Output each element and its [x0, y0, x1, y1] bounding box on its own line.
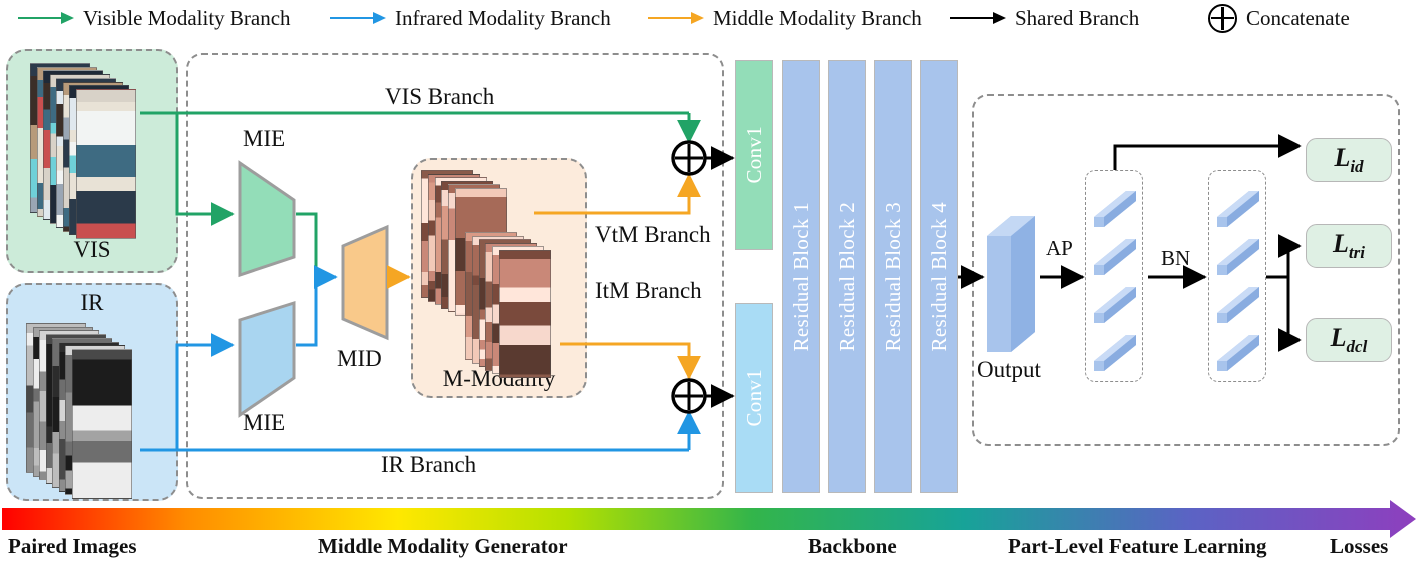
- loss-box-tri: Ltri: [1306, 224, 1392, 268]
- legend-label: Middle Modality Branch: [713, 8, 922, 29]
- arrow-icon: [18, 12, 74, 24]
- conv1-bottom-block: Conv1: [735, 303, 773, 493]
- legend-item-infrared: Infrared Modality Branch: [330, 0, 611, 36]
- legend-label: Visible Modality Branch: [83, 8, 291, 29]
- residual-block-3-label: Residual Block 3: [881, 202, 906, 351]
- output-label: Output: [977, 357, 1041, 383]
- ir-input-panel: IR: [6, 283, 178, 501]
- mid-shape: [340, 224, 392, 342]
- residual-block-2-label: Residual Block 2: [835, 202, 860, 351]
- legend-item-shared: Shared Branch: [950, 0, 1139, 36]
- legend: Visible Modality Branch Infrared Modalit…: [0, 0, 1418, 36]
- legend-label: Concatenate: [1246, 8, 1350, 29]
- vis-label: VIS: [8, 237, 176, 263]
- stage-label-losses: Losses: [1330, 534, 1388, 559]
- mie-top-label: MIE: [243, 126, 285, 152]
- image-slice: [72, 349, 132, 499]
- stage-gradient-arrow: [2, 500, 1416, 538]
- ap-label: AP: [1046, 236, 1073, 261]
- part-features-after-bn: [1208, 170, 1266, 382]
- image-slice: [76, 89, 136, 239]
- ir-label: IR: [8, 290, 176, 316]
- vis-input-panel: VIS: [6, 49, 178, 273]
- part-feature-bars: [1086, 171, 1142, 383]
- residual-block-1: Residual Block 1: [782, 60, 820, 493]
- arrow-icon: [950, 12, 1006, 24]
- image-slice: [499, 250, 551, 378]
- residual-block-3: Residual Block 3: [874, 60, 912, 493]
- part-feature-bars: [1209, 171, 1265, 383]
- legend-label: Infrared Modality Branch: [395, 8, 611, 29]
- m-modality-panel: M-Modality: [411, 158, 587, 398]
- arrow-icon: [648, 12, 704, 24]
- residual-block-4: Residual Block 4: [920, 60, 958, 493]
- residual-block-1-label: Residual Block 1: [789, 202, 814, 351]
- conv1-top-label: Conv1: [742, 126, 767, 184]
- conv1-top-block: Conv1: [735, 60, 773, 250]
- legend-item-middle: Middle Modality Branch: [648, 0, 922, 36]
- part-features-before-bn: [1085, 170, 1143, 382]
- stage-label-part-level: Part-Level Feature Learning: [1008, 534, 1267, 559]
- bn-label: BN: [1161, 246, 1190, 271]
- conv1-bottom-label: Conv1: [742, 369, 767, 427]
- loss-box-id: Lid: [1306, 138, 1392, 182]
- itm-branch-label: ItM Branch: [595, 278, 702, 304]
- stage-label-generator: Middle Modality Generator: [318, 534, 568, 559]
- legend-item-visible: Visible Modality Branch: [18, 0, 291, 36]
- loss-box-dcl: Ldcl: [1306, 318, 1392, 362]
- stage-label-backbone: Backbone: [808, 534, 897, 559]
- vtm-branch-label: VtM Branch: [595, 222, 711, 248]
- oplus-icon: [1208, 4, 1237, 33]
- ir-branch-label: IR Branch: [381, 452, 476, 478]
- loss-symbol-id: Lid: [1334, 143, 1363, 177]
- residual-block-4-label: Residual Block 4: [927, 202, 952, 351]
- residual-block-2: Residual Block 2: [828, 60, 866, 493]
- legend-label: Shared Branch: [1015, 8, 1139, 29]
- output-feature-slab: [985, 214, 1037, 359]
- mid-label: MID: [337, 346, 382, 372]
- loss-symbol-tri: Ltri: [1333, 229, 1365, 263]
- vis-branch-label: VIS Branch: [385, 84, 494, 110]
- mie-bottom-label: MIE: [243, 410, 285, 436]
- mie-bottom-shape: [237, 300, 299, 418]
- legend-item-concatenate: Concatenate: [1208, 0, 1350, 36]
- arrow-icon: [330, 12, 386, 24]
- mie-top-shape: [237, 160, 299, 278]
- loss-symbol-dcl: Ldcl: [1331, 323, 1368, 357]
- stage-label-paired-images: Paired Images: [8, 534, 137, 559]
